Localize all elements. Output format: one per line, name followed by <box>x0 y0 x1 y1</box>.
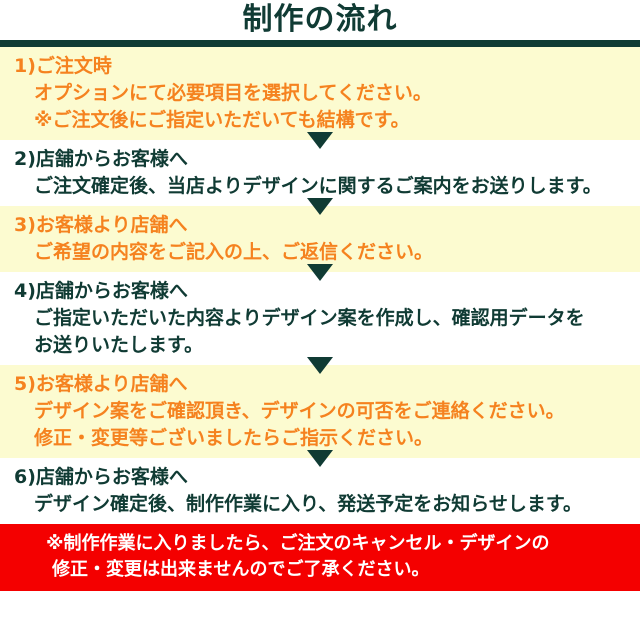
flow-step-4: 4)店舗からお客様へ ご指定いただいた内容よりデザイン案を作成し、確認用データを… <box>0 272 640 365</box>
flow-step-3-line-1: ご希望の内容をご記入の上、ご返信ください。 <box>14 239 640 266</box>
down-triangle-arrow-icon <box>307 264 333 281</box>
cancellation-notice-line-2: 修正・変更は出来ませんのでご了承ください。 <box>0 557 640 583</box>
flow-step-3: 3)お客様より店舗へ ご希望の内容をご記入の上、ご返信ください。 <box>0 206 640 272</box>
down-triangle-arrow-icon <box>307 132 333 149</box>
flow-step-1-heading: 1)ご注文時 <box>14 53 640 80</box>
down-triangle-arrow-icon <box>307 450 333 467</box>
down-triangle-arrow-icon <box>307 357 333 374</box>
down-triangle-arrow-icon <box>307 198 333 215</box>
flow-step-3-heading: 3)お客様より店舗へ <box>14 212 640 239</box>
flow-step-5-line-2: 修正・変更等ございましたらご指示ください。 <box>14 425 640 452</box>
flow-step-6-line-1: デザイン確定後、制作作業に入り、発送予定をお知らせします。 <box>14 491 640 518</box>
bottom-spacer <box>0 591 640 598</box>
flow-step-4-line-2: お送りいたします。 <box>14 332 640 359</box>
flow-step-6: 6)店舗からお客様へ デザイン確定後、制作作業に入り、発送予定をお知らせします。 <box>0 458 640 524</box>
cancellation-notice-line-1: ※制作作業に入りましたら、ご注文のキャンセル・デザインの <box>0 531 640 557</box>
flow-step-1-line-2: ※ご注文後にご指定いただいても結構です。 <box>14 107 640 134</box>
production-flow-diagram: 制作の流れ 1)ご注文時 オプションにて必要項目を選択してください。 ※ご注文後… <box>0 0 640 640</box>
flow-step-4-heading: 4)店舗からお客様へ <box>14 278 640 305</box>
cancellation-notice-banner: ※制作作業に入りましたら、ご注文のキャンセル・デザインの 修正・変更は出来ません… <box>0 524 640 591</box>
flow-step-4-line-1: ご指定いただいた内容よりデザイン案を作成し、確認用データを <box>14 305 640 332</box>
flow-step-5: 5)お客様より店舗へ デザイン案をご確認頂き、デザインの可否をご連絡ください。 … <box>0 365 640 458</box>
flow-step-6-heading: 6)店舗からお客様へ <box>14 464 640 491</box>
flow-step-5-heading: 5)お客様より店舗へ <box>14 371 640 398</box>
page-title-area: 制作の流れ <box>0 0 640 40</box>
flow-step-5-line-1: デザイン案をご確認頂き、デザインの可否をご連絡ください。 <box>14 398 640 425</box>
flow-step-1: 1)ご注文時 オプションにて必要項目を選択してください。 ※ご注文後にご指定いた… <box>0 47 640 140</box>
title-divider-rule <box>0 40 640 47</box>
flow-step-1-line-1: オプションにて必要項目を選択してください。 <box>14 80 640 107</box>
page-title: 制作の流れ <box>243 5 398 35</box>
flow-step-2-heading: 2)店舗からお客様へ <box>14 146 640 173</box>
flow-step-2: 2)店舗からお客様へ ご注文確定後、当店よりデザインに関するご案内をお送りします… <box>0 140 640 206</box>
flow-step-2-line-1: ご注文確定後、当店よりデザインに関するご案内をお送りします。 <box>14 173 640 200</box>
